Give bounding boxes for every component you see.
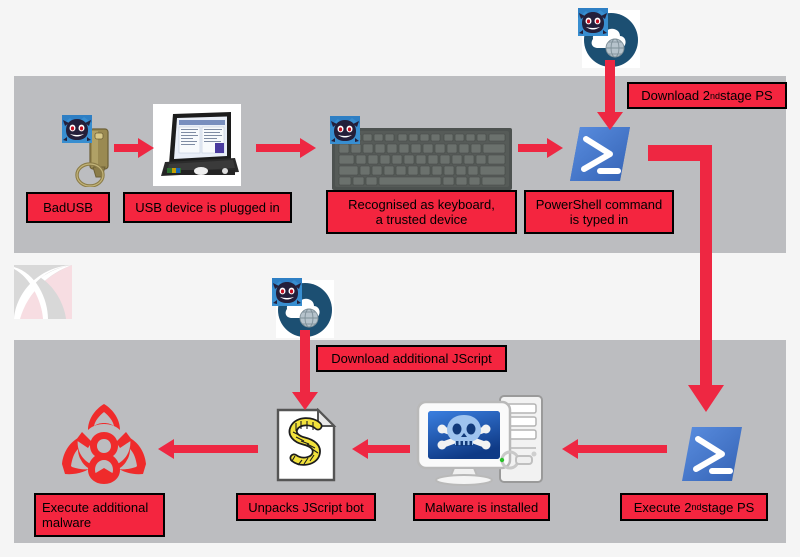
label-recognised-as-keyboard[interactable]: Recognised as keyboard, a trusted device (326, 190, 517, 234)
malware-ghost-badge (330, 116, 360, 144)
execute-ps-text-before: Execute 2 (634, 500, 692, 515)
powershell-icon (568, 125, 632, 183)
malware-ghost-badge (578, 8, 608, 36)
jscript-file-icon (274, 408, 340, 482)
label-download-additional-jscript[interactable]: Download additional JScript (316, 345, 507, 372)
arrow-badusb-to-laptop (114, 137, 154, 159)
label-badusb[interactable]: BadUSB (26, 192, 110, 223)
label-unpacks-jscript-bot[interactable]: Unpacks JScript bot (236, 493, 376, 521)
powershell-icon (680, 425, 744, 483)
malware-ghost-badge (62, 115, 92, 143)
arrow-stage1-to-stage2 (648, 140, 738, 420)
label-download-2nd-stage-ps[interactable]: Download 2nd stage PS (627, 82, 787, 109)
label-powershell-command[interactable]: PowerShell command is typed in (524, 190, 674, 234)
malware-ghost-badge (272, 278, 302, 306)
label-execute-additional-malware[interactable]: Execute additional malware (34, 493, 165, 537)
diagram-canvas: BadUSB USB device is plugged in Recognis… (0, 0, 800, 557)
infected-pc-icon (414, 392, 546, 486)
arrow-laptop-to-keyboard (256, 137, 316, 159)
arrow-jscript-to-biohazard (158, 438, 258, 460)
company-watermark-logo (12, 263, 74, 321)
arrow-cloud-to-jscript (292, 330, 318, 410)
arrow-pc-to-jscript (352, 438, 410, 460)
arrow-ps2-to-pc (562, 438, 667, 460)
label-usb-plugged-in[interactable]: USB device is plugged in (123, 192, 292, 223)
laptop-icon (153, 104, 241, 186)
label-malware-is-installed[interactable]: Malware is installed (413, 493, 550, 521)
download-ps-text-after: stage PS (720, 88, 773, 103)
download-ps-text-before: Download 2 (641, 88, 710, 103)
execute-ps-text-after: stage PS (702, 500, 755, 515)
label-execute-2nd-stage-ps[interactable]: Execute 2nd stage PS (620, 493, 768, 521)
arrow-cloud-to-powershell (597, 60, 623, 130)
arrow-keyboard-to-powershell (518, 137, 563, 159)
biohazard-icon (58, 402, 150, 488)
